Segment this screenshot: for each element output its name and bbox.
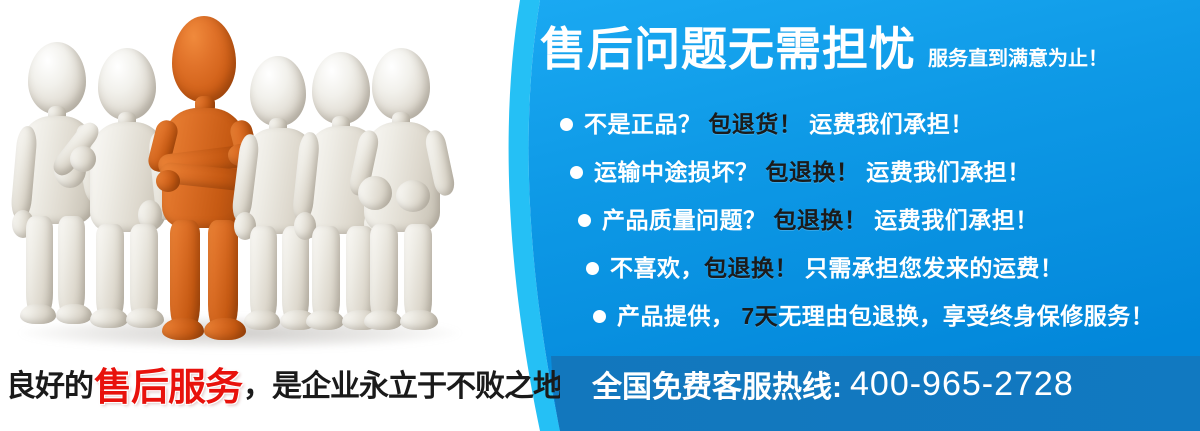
bullet-highlight: 包退货！ bbox=[708, 111, 802, 137]
headline-subtitle: 服务直到满意为止！ bbox=[928, 49, 1108, 69]
tagline-part1: 良好的 bbox=[6, 361, 93, 405]
list-item: 产品质量问题？ 包退换！ 运费我们承担！ bbox=[530, 196, 1200, 244]
bullet-after: 运费我们承担！ bbox=[867, 207, 1038, 233]
list-item: 运输中途损坏？ 包退换！ 运费我们承担！ bbox=[530, 148, 1200, 196]
bullet-before: 不是正品？ bbox=[584, 111, 708, 137]
bullet-highlight: 7天 bbox=[741, 303, 778, 329]
list-item-text: 产品提供， 7天无理由包退换，享受终身保修服务！ bbox=[617, 305, 1154, 328]
tagline: 良好的 售后服务 ，是企业永立于不败之地的 关键! bbox=[6, 352, 554, 414]
bullet-highlight: 包退换！ bbox=[765, 159, 859, 185]
bullet-dot-icon bbox=[593, 310, 606, 323]
bullet-dot-icon bbox=[560, 118, 573, 131]
hotline-bar: 全国免费客服热线: 400-965-2728 bbox=[530, 356, 1200, 412]
bullet-highlight: 包退换！ bbox=[773, 207, 867, 233]
list-item-text: 运输中途损坏？ 包退换！ 运费我们承担！ bbox=[594, 161, 1031, 184]
bullet-after: 运费我们承担！ bbox=[802, 111, 973, 137]
bullet-before: 运输中途损坏？ bbox=[594, 159, 765, 185]
bullet-before: 产品质量问题？ bbox=[602, 207, 773, 233]
headline-group: 售后问题无需担忧 服务直到满意为止！ bbox=[540, 26, 1108, 72]
promo-content: 售后问题无需担忧 服务直到满意为止！ 不是正品？ 包退货！ 运费我们承担！ 运输… bbox=[530, 0, 1200, 431]
bullet-dot-icon bbox=[586, 262, 599, 275]
list-item: 产品提供， 7天无理由包退换，享受终身保修服务！ bbox=[530, 292, 1200, 340]
bullet-before: 不喜欢， bbox=[610, 255, 704, 281]
crowd-illustration bbox=[0, 4, 500, 354]
list-item: 不是正品？ 包退货！ 运费我们承担！ bbox=[530, 100, 1200, 148]
list-item-text: 不是正品？ 包退货！ 运费我们承担！ bbox=[584, 113, 974, 136]
list-item-text: 产品质量问题？ 包退换！ 运费我们承担！ bbox=[602, 209, 1039, 232]
headline-main: 售后问题无需担忧 bbox=[540, 26, 916, 72]
bullet-before: 产品提供， bbox=[617, 303, 741, 329]
bullet-after: 运费我们承担！ bbox=[859, 159, 1030, 185]
list-item: 不喜欢，包退换！ 只需承担您发来的运费！ bbox=[530, 244, 1200, 292]
bullet-dot-icon bbox=[570, 166, 583, 179]
hotline-label: 全国免费客服热线: bbox=[592, 362, 842, 406]
guarantee-list: 不是正品？ 包退货！ 运费我们承担！ 运输中途损坏？ 包退换！ 运费我们承担！ … bbox=[530, 100, 1200, 340]
bullet-highlight: 包退换！ bbox=[704, 255, 798, 281]
hotline-number[interactable]: 400-965-2728 bbox=[850, 365, 1074, 404]
illustration-panel: 良好的 售后服务 ，是企业永立于不败之地的 关键! bbox=[0, 0, 560, 431]
after-sales-service-banner: 良好的 售后服务 ，是企业永立于不败之地的 关键! bbox=[0, 0, 1200, 431]
tagline-part2: ，是企业永立于不败之地的 bbox=[243, 361, 560, 405]
tagline-highlight-service: 售后服务 bbox=[93, 356, 243, 411]
bullet-dot-icon bbox=[578, 214, 591, 227]
bullet-after: 无理由包退换，享受终身保修服务！ bbox=[778, 303, 1154, 329]
bullet-after: 只需承担您发来的运费！ bbox=[798, 255, 1063, 281]
list-item-text: 不喜欢，包退换！ 只需承担您发来的运费！ bbox=[610, 257, 1063, 280]
